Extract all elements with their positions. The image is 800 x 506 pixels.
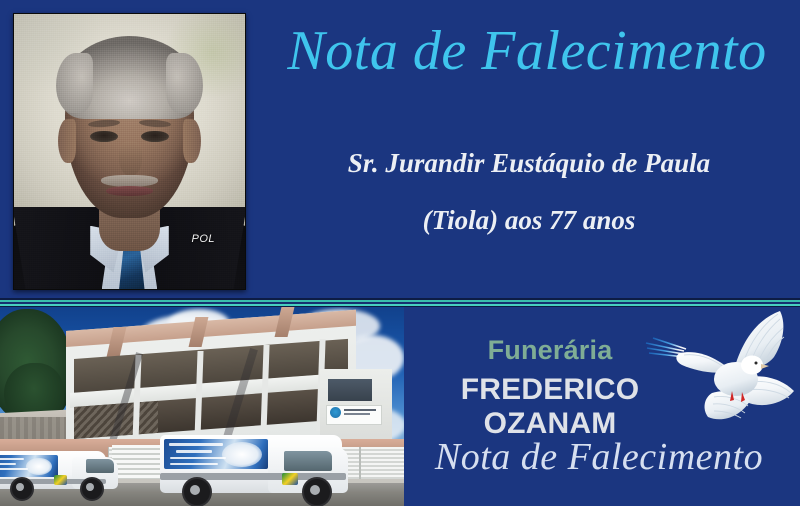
van-logo bbox=[54, 475, 67, 485]
portrait-watermark: POL bbox=[191, 233, 215, 245]
deceased-name: Sr. Jurandir Eustáquio de Paula bbox=[262, 150, 796, 177]
top-section: POL Nota de Falecimento Sr. Jurandir Eus… bbox=[0, 0, 800, 301]
portrait-photo: POL bbox=[14, 14, 245, 289]
signboard-dove-icon bbox=[330, 407, 341, 418]
portrait-frame: POL bbox=[13, 13, 246, 290]
van-banner-text-line bbox=[0, 458, 24, 460]
brand-tagline: Nota de Falecimento bbox=[404, 435, 794, 479]
van-banner-dove bbox=[26, 458, 52, 475]
bottom-section: Funerária FREDERICO OZANAM bbox=[0, 307, 800, 506]
van-banner bbox=[0, 455, 58, 477]
van-wheel-hub bbox=[310, 485, 320, 495]
signboard-text-line bbox=[344, 409, 376, 411]
van-windshield bbox=[86, 459, 114, 473]
deceased-block: Sr. Jurandir Eustáquio de Paula (Tiola) … bbox=[262, 150, 796, 234]
van-wheel-hub bbox=[16, 483, 24, 491]
page-title: Nota de Falecimento bbox=[262, 22, 792, 81]
section-divider bbox=[0, 298, 800, 307]
building-photo bbox=[0, 307, 404, 506]
headline-block: Nota de Falecimento bbox=[262, 22, 792, 81]
van-banner-text-line bbox=[169, 443, 223, 446]
death-notice-card: POL Nota de Falecimento Sr. Jurandir Eus… bbox=[0, 0, 800, 506]
van-wheel-hub bbox=[86, 483, 94, 491]
van-banner-text-line bbox=[170, 457, 226, 459]
van-banner-text-line bbox=[0, 468, 28, 470]
van-logo bbox=[282, 473, 298, 485]
van-banner-text-line bbox=[176, 450, 212, 453]
signboard-text-line bbox=[344, 413, 370, 415]
van-banner-text-line bbox=[170, 463, 218, 465]
van-banner-dove bbox=[222, 442, 262, 467]
portrait-film-grain bbox=[14, 14, 245, 289]
van-wheel-hub bbox=[190, 485, 200, 495]
van-banner bbox=[164, 439, 268, 469]
dove-icon bbox=[640, 309, 800, 427]
deceased-detail: (Tiola) aos 77 anos bbox=[262, 207, 796, 234]
building-annex-window bbox=[328, 379, 372, 401]
brand-panel: Funerária FREDERICO OZANAM bbox=[404, 307, 800, 506]
van-windshield bbox=[284, 451, 332, 471]
van-banner-text-line bbox=[0, 463, 16, 465]
